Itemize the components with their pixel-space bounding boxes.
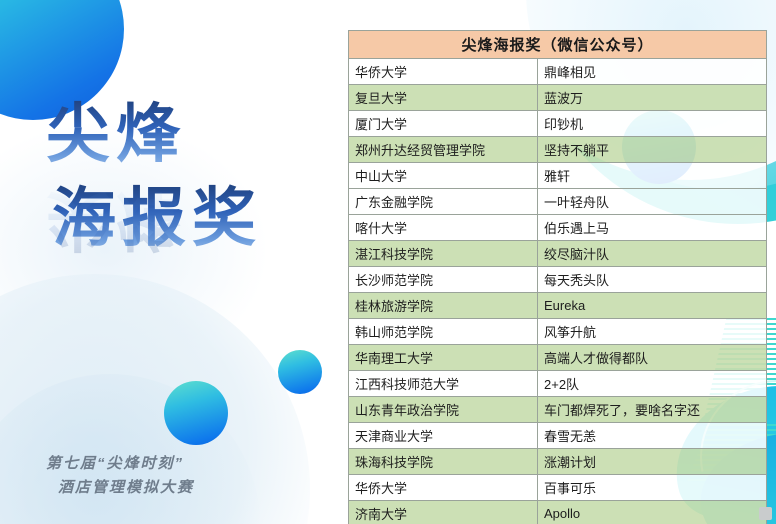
cell-team: 雅轩 (538, 163, 767, 189)
presentation-slide: 尖烽 海报奖 尖烽 海报奖 第七届“尖烽时刻” 酒店管理模拟大赛 尖烽海报奖（微… (0, 0, 776, 524)
cell-school: 华南理工大学 (349, 345, 538, 371)
cell-team: 鼎峰相见 (538, 59, 767, 85)
table-row: 华侨大学鼎峰相见 (349, 59, 767, 85)
cell-school: 天津商业大学 (349, 423, 538, 449)
cell-team: 每天秃头队 (538, 267, 767, 293)
award-table-container: 尖烽海报奖（微信公众号） 华侨大学鼎峰相见复旦大学蓝波万厦门大学印钞机郑州升达经… (348, 30, 766, 524)
corner-marker (759, 507, 772, 520)
cell-school: 桂林旅游学院 (349, 293, 538, 319)
cell-school: 郑州升达经贸管理学院 (349, 137, 538, 163)
hero-title: 尖烽 海报奖 尖烽 海报奖 (46, 96, 336, 258)
caption-line-1: 第七届“尖烽时刻” (46, 452, 194, 476)
cell-school: 广东金融学院 (349, 189, 538, 215)
table-row: 济南大学Apollo (349, 501, 767, 524)
cell-school: 济南大学 (349, 501, 538, 524)
table-row: 喀什大学伯乐遇上马 (349, 215, 767, 241)
event-caption: 第七届“尖烽时刻” 酒店管理模拟大赛 (46, 452, 194, 500)
table-row: 桂林旅游学院Eureka (349, 293, 767, 319)
cell-team: Eureka (538, 293, 767, 319)
cell-team: 涨潮计划 (538, 449, 767, 475)
cell-school: 华侨大学 (349, 59, 538, 85)
table-row: 郑州升达经贸管理学院坚持不躺平 (349, 137, 767, 163)
gradient-circle-small (278, 350, 322, 394)
cell-team: 2+2队 (538, 371, 767, 397)
award-table-body: 华侨大学鼎峰相见复旦大学蓝波万厦门大学印钞机郑州升达经贸管理学院坚持不躺平中山大… (349, 59, 767, 524)
cell-team: 车门都焊死了，要啥名字还 (538, 397, 767, 423)
table-row: 长沙师范学院每天秃头队 (349, 267, 767, 293)
award-table-head: 尖烽海报奖（微信公众号） (349, 31, 767, 59)
table-row: 山东青年政治学院车门都焊死了，要啥名字还 (349, 397, 767, 423)
table-row: 湛江科技学院绞尽脑汁队 (349, 241, 767, 267)
table-row: 华南理工大学高端人才做得都队 (349, 345, 767, 371)
cell-school: 江西科技师范大学 (349, 371, 538, 397)
cell-school: 复旦大学 (349, 85, 538, 111)
table-row: 华侨大学百事可乐 (349, 475, 767, 501)
cell-team: 风筝升航 (538, 319, 767, 345)
table-row: 复旦大学蓝波万 (349, 85, 767, 111)
table-row: 天津商业大学春雪无恙 (349, 423, 767, 449)
table-row: 厦门大学印钞机 (349, 111, 767, 137)
cell-team: 绞尽脑汁队 (538, 241, 767, 267)
hero-title-line-2: 海报奖 (52, 180, 336, 258)
table-row: 韩山师范学院风筝升航 (349, 319, 767, 345)
gradient-circle-medium (164, 381, 228, 445)
cell-team: 春雪无恙 (538, 423, 767, 449)
award-table: 尖烽海报奖（微信公众号） 华侨大学鼎峰相见复旦大学蓝波万厦门大学印钞机郑州升达经… (348, 30, 767, 524)
cell-school: 长沙师范学院 (349, 267, 538, 293)
cell-team: Apollo (538, 501, 767, 524)
table-row: 珠海科技学院涨潮计划 (349, 449, 767, 475)
cell-team: 蓝波万 (538, 85, 767, 111)
cell-school: 山东青年政治学院 (349, 397, 538, 423)
caption-line-2: 酒店管理模拟大赛 (58, 476, 194, 500)
award-table-title: 尖烽海报奖（微信公众号） (349, 31, 767, 59)
cell-team: 伯乐遇上马 (538, 215, 767, 241)
cell-school: 厦门大学 (349, 111, 538, 137)
pale-wash-bottom-left-inner (0, 374, 260, 524)
table-row: 广东金融学院一叶轻舟队 (349, 189, 767, 215)
cell-school: 华侨大学 (349, 475, 538, 501)
cell-school: 喀什大学 (349, 215, 538, 241)
hero-title-line-1: 尖烽 (46, 96, 336, 174)
award-table-header-row: 尖烽海报奖（微信公众号） (349, 31, 767, 59)
cell-team: 坚持不躺平 (538, 137, 767, 163)
cell-school: 珠海科技学院 (349, 449, 538, 475)
cell-school: 韩山师范学院 (349, 319, 538, 345)
cell-team: 百事可乐 (538, 475, 767, 501)
cell-school: 中山大学 (349, 163, 538, 189)
cell-team: 高端人才做得都队 (538, 345, 767, 371)
cell-team: 一叶轻舟队 (538, 189, 767, 215)
cell-school: 湛江科技学院 (349, 241, 538, 267)
table-row: 江西科技师范大学2+2队 (349, 371, 767, 397)
cell-team: 印钞机 (538, 111, 767, 137)
table-row: 中山大学雅轩 (349, 163, 767, 189)
